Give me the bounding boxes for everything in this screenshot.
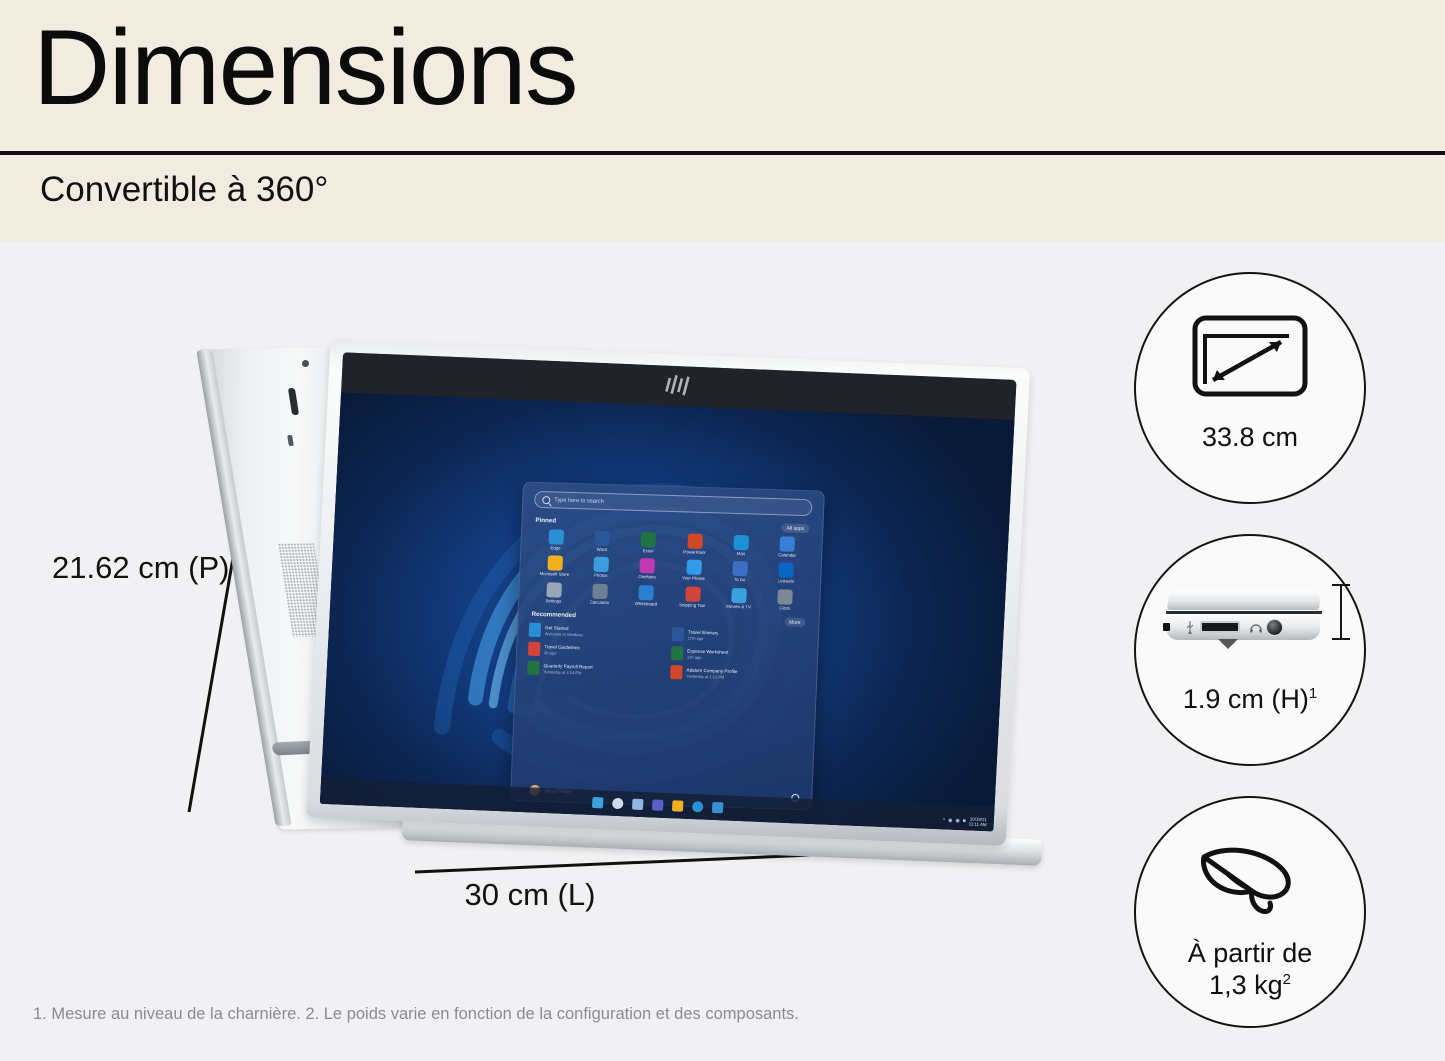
app-icon — [546, 582, 562, 597]
pinned-app[interactable]: LinkedIn — [763, 562, 810, 585]
badge-art — [1136, 308, 1364, 404]
app-label: LinkedIn — [778, 580, 795, 585]
pinned-app[interactable]: Calculator — [576, 583, 623, 606]
start-search-placeholder: Type here to search — [554, 497, 604, 505]
windows-wallpaper: Type here to search Pinned All apps Edge… — [320, 392, 1015, 831]
file-icon — [528, 642, 541, 656]
badge-art — [1136, 832, 1364, 928]
height-measure-bar — [1340, 584, 1342, 640]
item-subtitle: Welcome to Windows — [545, 631, 584, 637]
pinned-app[interactable]: Snipping Tool — [669, 586, 716, 609]
all-apps-button[interactable]: All apps — [781, 523, 809, 533]
list-item[interactable]: Travel Itinerary 17m ago — [672, 627, 808, 645]
list-item[interactable]: Adatum Company Profile Yesterday at 1:13… — [670, 665, 806, 683]
badge-caption-text: 1.9 cm (H) — [1183, 684, 1309, 714]
laptop-side-profile-icon — [1162, 578, 1338, 658]
app-label: Photos — [594, 574, 608, 579]
item-subtitle: 2h ago — [544, 650, 580, 656]
app-label: Clock — [779, 606, 790, 611]
usb-c-port-icon — [1163, 623, 1170, 631]
item-subtitle: Yesterday at 1:13 PM — [686, 673, 737, 680]
pinned-app[interactable]: Whiteboard — [623, 584, 670, 607]
start-icon[interactable] — [591, 797, 603, 808]
pinned-app[interactable]: Excel — [625, 532, 672, 555]
app-icon — [639, 585, 655, 600]
badge-caption: À partir de 1,3 kg2 — [1136, 938, 1364, 1002]
app-icon — [593, 557, 609, 572]
teams-icon[interactable] — [651, 799, 663, 810]
laptop-foot — [1218, 639, 1238, 649]
search-icon[interactable] — [611, 798, 623, 809]
clock-time: 11:11 AM — [969, 821, 987, 827]
volume-icon[interactable]: ◉ — [955, 818, 960, 824]
badge-caption: 33.8 cm — [1136, 422, 1364, 454]
page-title: Dimensions — [33, 14, 577, 121]
app-icon — [686, 560, 702, 575]
list-item[interactable]: Expense Worksheet 12h ago — [671, 646, 807, 664]
store-icon[interactable] — [711, 802, 723, 813]
app-label: Edge — [550, 546, 560, 551]
item-subtitle: 17m ago — [688, 635, 719, 641]
pinned-app[interactable]: Edge — [532, 529, 579, 552]
file-icon — [671, 646, 684, 660]
laptop-lid-profile — [1167, 590, 1321, 610]
badge-weight: À partir de 1,3 kg2 — [1134, 796, 1366, 1028]
app-label: Excel — [643, 549, 654, 554]
app-label: Microsoft Store — [540, 572, 570, 577]
item-title: Travel Guidelines — [544, 644, 580, 650]
recommended-more-button[interactable]: More — [784, 618, 806, 628]
laptop-product-image: Type here to search Pinned All apps Edge… — [230, 340, 1040, 860]
screen-bezel: Type here to search Pinned All apps Edge… — [320, 352, 1017, 831]
pinned-apps-grid: Edge Word Excel PowerPoint Mail Calendar… — [530, 529, 811, 612]
system-tray[interactable]: ^ ◉ ◉ ■ 10/19/21 11:11 AM — [942, 815, 987, 827]
pinned-app[interactable]: To Do — [716, 561, 763, 584]
app-icon — [731, 588, 747, 603]
recommended-heading: Recommended — [531, 611, 576, 619]
widgets-icon[interactable] — [631, 799, 643, 810]
search-icon — [542, 496, 550, 504]
app-label: Settings — [545, 599, 561, 604]
app-label: Your Phone — [682, 577, 705, 582]
pinned-app[interactable]: Word — [579, 530, 626, 553]
edge-icon[interactable] — [691, 801, 703, 812]
battery-icon[interactable]: ■ — [963, 818, 966, 824]
app-icon — [641, 532, 657, 547]
width-dimension-label: 30 cm (L) — [0, 877, 1060, 913]
app-icon — [594, 531, 610, 546]
app-icon — [732, 561, 748, 576]
pinned-app[interactable]: Settings — [530, 582, 577, 605]
pinned-app[interactable]: Microsoft Store — [531, 555, 578, 578]
pinned-app[interactable]: PowerPoint — [671, 533, 718, 556]
headphone-jack-icon — [1266, 619, 1283, 636]
clock[interactable]: 10/19/21 11:11 AM — [969, 816, 987, 827]
pinned-app[interactable]: Mail — [717, 534, 764, 557]
app-icon — [547, 556, 563, 571]
app-label: Word — [596, 548, 607, 553]
usb-a-port-icon — [1200, 621, 1240, 633]
pinned-app[interactable]: Your Phone — [670, 559, 717, 582]
file-icon — [672, 627, 685, 641]
laptop-screen-half: Type here to search Pinned All apps Edge… — [305, 328, 1036, 864]
pinned-app[interactable]: Calendar — [764, 536, 811, 559]
pinned-app[interactable]: Movies & TV — [715, 587, 762, 610]
file-icon — [529, 623, 542, 637]
start-search-box[interactable]: Type here to search — [534, 491, 813, 516]
headphone-symbol-icon — [1250, 622, 1262, 633]
app-label: Mail — [737, 552, 745, 557]
explorer-icon[interactable] — [671, 800, 683, 811]
app-icon — [685, 586, 701, 601]
windows-start-menu[interactable]: Type here to search Pinned All apps Edge… — [510, 481, 825, 810]
app-label: Snipping Tool — [679, 603, 705, 608]
pinned-app[interactable]: Clock — [762, 589, 809, 612]
item-subtitle: 12h ago — [687, 654, 728, 660]
app-label: To Do — [734, 578, 746, 583]
audio-port-icon — [302, 360, 309, 367]
app-label: PowerPoint — [683, 550, 706, 555]
network-icon[interactable]: ◉ — [948, 818, 953, 824]
pinned-app[interactable]: OneNote — [624, 558, 671, 581]
badge-height: 1.9 cm (H)1 — [1134, 534, 1366, 766]
app-label: Calendar — [778, 553, 796, 558]
footnote: 1. Mesure au niveau de la charnière. 2. … — [33, 1005, 799, 1024]
badge-caption-line2: 1,3 kg — [1209, 970, 1283, 1000]
chevron-up-icon[interactable]: ^ — [943, 817, 946, 823]
footnote-marker: 1 — [1309, 685, 1317, 702]
depth-dimension-label: 21.62 cm (P) — [52, 550, 229, 586]
app-icon — [592, 583, 608, 598]
item-subtitle: Yesterday at 4:24 PM — [543, 669, 592, 676]
app-icon — [548, 529, 564, 544]
app-label: Movies & TV — [726, 605, 751, 610]
app-icon — [640, 558, 656, 573]
screen-diagonal-icon — [1191, 314, 1309, 398]
usb-symbol-icon — [1184, 620, 1196, 634]
badge-caption: 1.9 cm (H)1 — [1136, 684, 1364, 716]
app-icon — [778, 589, 794, 604]
list-item[interactable]: Get Started Welcome to Windows — [529, 623, 665, 641]
app-label: OneNote — [638, 575, 656, 580]
app-icon — [780, 536, 796, 551]
footnote-marker: 2 — [1283, 971, 1291, 988]
feather-icon — [1194, 841, 1306, 919]
pinned-app[interactable]: Photos — [577, 557, 624, 580]
app-icon — [733, 535, 749, 550]
file-icon — [527, 661, 540, 675]
pinned-heading: Pinned — [535, 517, 556, 525]
item-title: Travel Itinerary — [688, 629, 719, 635]
list-item[interactable]: Travel Guidelines 2h ago — [528, 642, 664, 660]
dimensions-infographic: Dimensions Convertible à 360° 21.62 cm (… — [0, 0, 1445, 1061]
app-icon — [779, 563, 795, 578]
app-icon — [687, 533, 703, 548]
app-label: Calculator — [590, 600, 610, 605]
badge-art — [1136, 570, 1364, 666]
badge-screen-diagonal: 33.8 cm — [1134, 272, 1366, 504]
page-subtitle: Convertible à 360° — [40, 170, 328, 210]
hp-logo — [664, 374, 693, 397]
badge-caption-line1: À partir de — [1188, 938, 1313, 968]
list-item[interactable]: Quarterly Payroll Report Yesterday at 4:… — [527, 661, 663, 679]
recommended-list: Get Started Welcome to Windows Travel It… — [527, 623, 807, 683]
app-label: Whiteboard — [635, 602, 658, 607]
file-icon — [670, 665, 683, 679]
